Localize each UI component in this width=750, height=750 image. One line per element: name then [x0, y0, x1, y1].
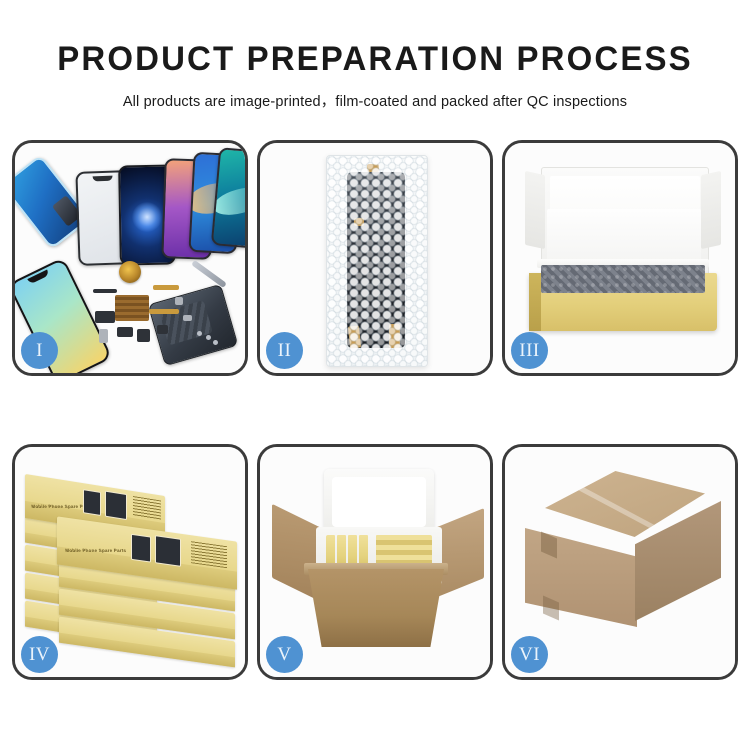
- process-steps-grid: I II: [12, 140, 738, 680]
- box-window: [105, 491, 127, 520]
- part-flex-cable-icon: [153, 285, 179, 290]
- part-connector-icon: [93, 289, 117, 293]
- box-stack: Mobile Phone Spare Parts Mobile Phone Sp…: [23, 467, 238, 667]
- box-window: [131, 534, 151, 563]
- part-sim-tray-icon: [99, 329, 108, 343]
- bubble-wrap-bag: [326, 155, 428, 367]
- page-header: PRODUCT PREPARATION PROCESS All products…: [0, 0, 750, 111]
- step-panel-1: I: [12, 140, 248, 376]
- logic-board-icon: [115, 295, 149, 321]
- box-lid-flap-left: [525, 171, 545, 249]
- speaker-coil-icon: [119, 261, 141, 283]
- step-badge-1: I: [21, 332, 58, 369]
- box-window: [155, 535, 181, 567]
- open-yellow-box: [525, 167, 721, 347]
- spare-parts-group: [93, 267, 211, 363]
- box-lid-flap-right: [701, 171, 721, 249]
- step-badge-5: V: [266, 636, 303, 673]
- step-badge-6: VI: [511, 636, 548, 673]
- box-spec-text: [191, 541, 227, 568]
- carton-body: [308, 569, 444, 647]
- screws-group-icon: [197, 331, 219, 345]
- part-camera-icon: [137, 329, 150, 342]
- part-clip-icon: [183, 315, 192, 321]
- foam-padding-insert: [541, 265, 705, 293]
- open-carton: [272, 463, 484, 663]
- foam-box-lid: [324, 469, 434, 535]
- part-module-icon: [117, 327, 133, 337]
- part-button-icon: [157, 325, 168, 334]
- part-bracket-icon: [95, 311, 115, 323]
- sealed-carton: [523, 471, 723, 651]
- box-label-text: Mobile Phone Spare Parts: [65, 548, 127, 553]
- step-panel-2: II: [257, 140, 493, 376]
- step-panel-6: VI: [502, 444, 738, 680]
- step-panel-3: III: [502, 140, 738, 376]
- page-subtitle: All products are image-printed，film-coat…: [0, 90, 750, 111]
- part-screw-plate-icon: [175, 297, 183, 305]
- part-flex-cable-2-icon: [149, 309, 179, 314]
- step-panel-4: Mobile Phone Spare Parts Mobile Phone Sp…: [12, 444, 248, 680]
- box-spec-text: [133, 496, 161, 520]
- box-window: [83, 489, 101, 516]
- step-badge-2: II: [266, 332, 303, 369]
- step-panel-5: V: [257, 444, 493, 680]
- page-title: PRODUCT PREPARATION PROCESS: [11, 42, 739, 76]
- step-badge-4: IV: [21, 636, 58, 673]
- bubble-texture-overlay: [327, 156, 427, 366]
- step-badge-3: III: [511, 332, 548, 369]
